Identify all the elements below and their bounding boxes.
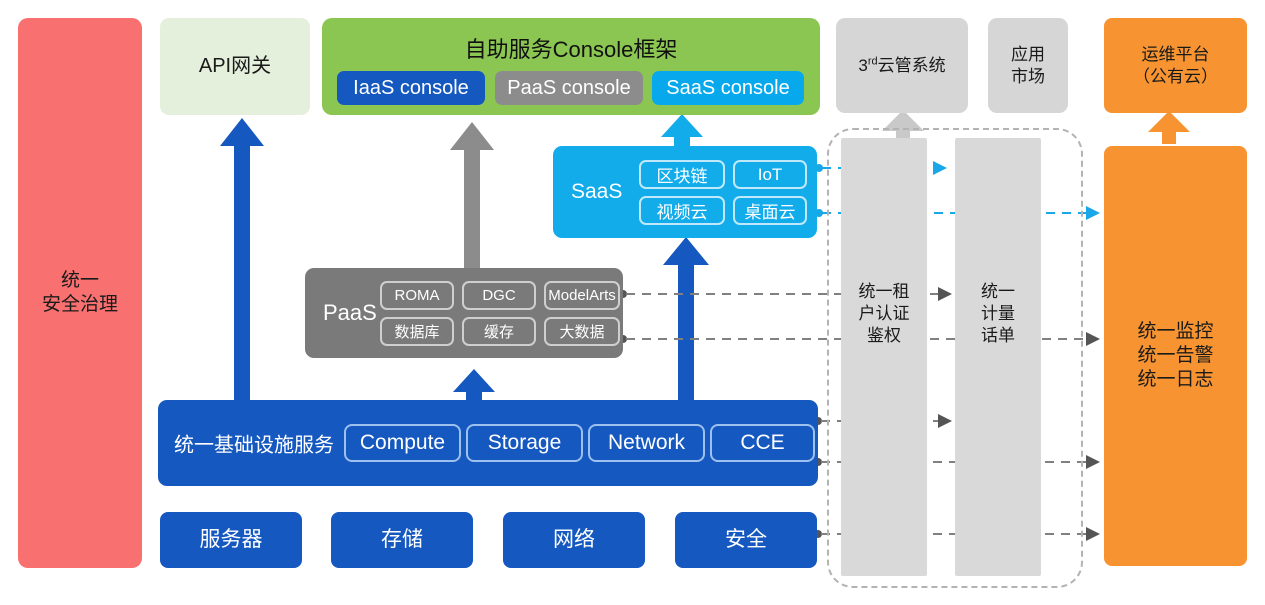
arrow-infra-to-saas — [663, 237, 709, 410]
arrow-paas-to-console — [450, 122, 494, 270]
common-service-label-auth: 统一租 户认证 鉴权 — [841, 281, 927, 347]
saas-panel-label: SaaS — [571, 180, 622, 204]
hardware-item-server[interactable]: 服务器 — [160, 512, 302, 568]
architecture-diagram: 统一租 户认证 鉴权 统一 计量 话单 统一 安全治理 API网关 自助服务Co… — [0, 0, 1265, 605]
infrastructure-panel-label: 统一基础设施服务 — [174, 429, 334, 458]
paas-item-roma[interactable]: ROMA — [380, 281, 454, 310]
api-gateway-box[interactable]: API网关 — [160, 18, 310, 115]
paas-panel-label: PaaS — [323, 300, 377, 326]
infrastructure-panel: 统一基础设施服务 Compute Storage Network CCE — [158, 400, 818, 486]
paas-item-bigdata[interactable]: 大数据 — [544, 317, 620, 346]
paas-panel: PaaS ROMA DGC ModelArts 数据库 缓存 大数据 — [305, 268, 623, 358]
ops-platform-header-box[interactable]: 运维平台 （公有云） — [1104, 18, 1247, 113]
arrow-saas-to-console — [661, 114, 703, 150]
common-service-bar-auth — [841, 138, 927, 576]
saas-panel: SaaS 区块链 IoT 视频云 桌面云 — [553, 146, 817, 238]
common-service-bar-billing — [955, 138, 1041, 576]
third-party-cloud-mgmt-box[interactable]: 3rd云管系统 — [836, 18, 968, 113]
paas-item-modelarts[interactable]: ModelArts — [544, 281, 620, 310]
paas-item-dgc[interactable]: DGC — [462, 281, 536, 310]
ops-platform-body-box[interactable]: 统一监控 统一告警 统一日志 — [1104, 146, 1247, 566]
paas-item-cache[interactable]: 缓存 — [462, 317, 536, 346]
infra-item-compute[interactable]: Compute — [344, 424, 461, 462]
common-service-label-billing: 统一 计量 话单 — [955, 281, 1041, 347]
iaas-console-button[interactable]: IaaS console — [337, 71, 485, 105]
console-framework-panel: 自助服务Console框架 IaaS console PaaS console … — [322, 18, 820, 115]
saas-console-button[interactable]: SaaS console — [652, 71, 804, 105]
infra-item-cce[interactable]: CCE — [710, 424, 815, 462]
infra-item-storage[interactable]: Storage — [466, 424, 583, 462]
arrow-infra-to-api-gateway — [220, 118, 264, 410]
app-market-box[interactable]: 应用 市场 — [988, 18, 1068, 113]
security-governance-panel[interactable]: 统一 安全治理 — [18, 18, 142, 568]
paas-item-database[interactable]: 数据库 — [380, 317, 454, 346]
saas-item-iot[interactable]: IoT — [733, 160, 807, 189]
hardware-item-security[interactable]: 安全 — [675, 512, 817, 568]
hardware-item-network[interactable]: 网络 — [503, 512, 645, 568]
console-framework-title: 自助服务Console框架 — [322, 32, 820, 64]
arrow-ops-body-to-header — [1148, 111, 1190, 144]
saas-item-blockchain[interactable]: 区块链 — [639, 160, 725, 189]
infra-item-network[interactable]: Network — [588, 424, 705, 462]
saas-item-desktop-cloud[interactable]: 桌面云 — [733, 196, 807, 225]
paas-console-button[interactable]: PaaS console — [495, 71, 643, 105]
saas-item-video-cloud[interactable]: 视频云 — [639, 196, 725, 225]
hardware-item-storage[interactable]: 存储 — [331, 512, 473, 568]
third-party-cloud-mgmt-label: 3rd云管系统 — [858, 55, 945, 76]
